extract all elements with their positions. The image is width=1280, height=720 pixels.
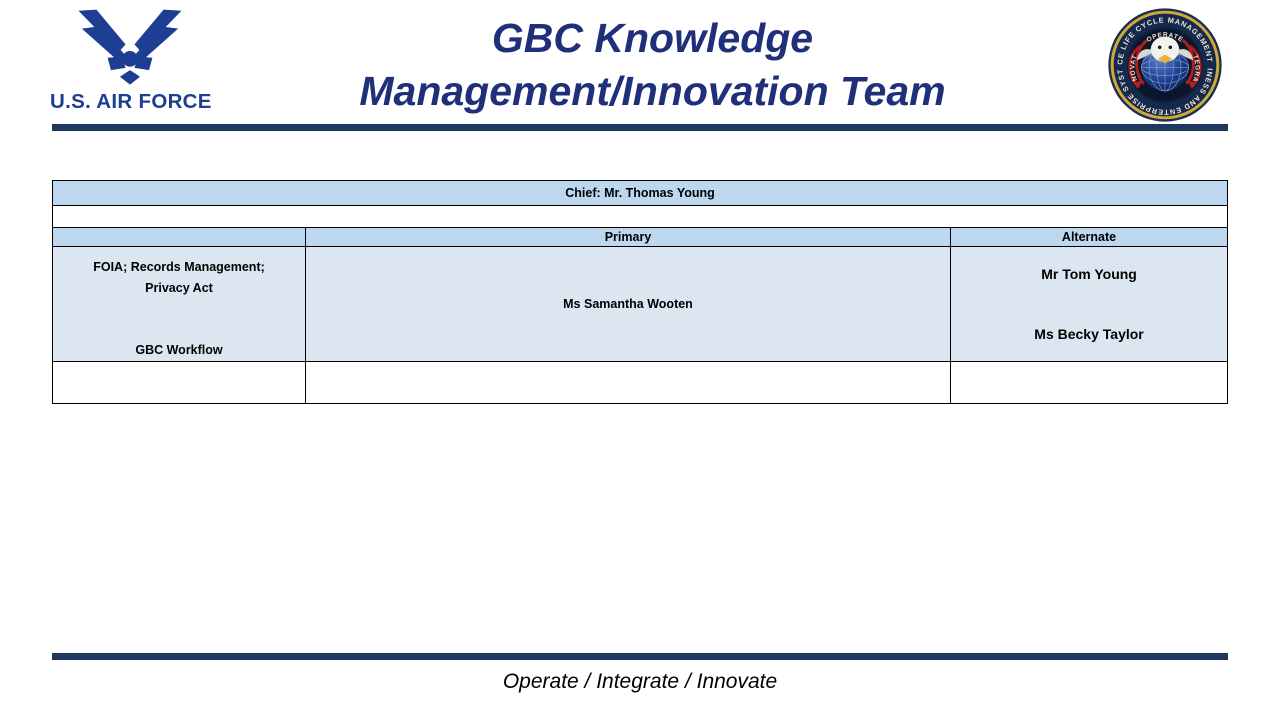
table-row-column-headers: Primary Alternate [53, 228, 1228, 247]
column-header-primary: Primary [306, 228, 951, 247]
cell-alternate [951, 362, 1228, 404]
page-title: GBC Knowledge Management/Innovation Team [215, 12, 1090, 118]
footer-tagline: Operate / Integrate / Innovate [0, 670, 1280, 694]
spacer-cell [53, 206, 1228, 228]
column-header-area [53, 228, 306, 247]
cell-functional-area [53, 362, 306, 404]
air-force-logo: U.S. AIR FORCE [50, 4, 210, 126]
alternate-name-2: Ms Becky Taylor [957, 326, 1221, 342]
header-divider-rule [52, 124, 1228, 131]
cell-primary: Ms Samantha Wooten [306, 247, 951, 362]
page-title-line-2: Management/Innovation Team [215, 65, 1090, 118]
cell-functional-area: FOIA; Records Management; Privacy Act GB… [53, 247, 306, 362]
area-line-1: FOIA; Records Management; [59, 257, 299, 278]
chief-cell: Chief: Mr. Thomas Young [53, 181, 1228, 206]
air-force-logo-text: U.S. AIR FORCE [50, 90, 210, 114]
page-title-line-1: GBC Knowledge [215, 12, 1090, 65]
table-row: FOIA; Records Management; Privacy Act GB… [53, 247, 1228, 362]
alternate-spacer [957, 282, 1221, 326]
table-row-spacer [53, 206, 1228, 228]
table-row-chief: Chief: Mr. Thomas Young [53, 181, 1228, 206]
aflcmc-seal-icon: AIR FORCE LIFE CYCLE MANAGEMENT CENTER B… [1102, 6, 1228, 124]
column-header-alternate: Alternate [951, 228, 1228, 247]
air-force-wings-icon [74, 4, 186, 88]
table-row [53, 362, 1228, 404]
area-spacer [59, 299, 299, 343]
team-roster-table: Chief: Mr. Thomas Young Primary Alternat… [52, 180, 1228, 404]
primary-name: Ms Samantha Wooten [312, 297, 944, 311]
footer-divider-rule [52, 653, 1228, 660]
slide-header: U.S. AIR FORCE GBC Knowledge Management/… [0, 0, 1280, 132]
alternate-name-1: Mr Tom Young [957, 266, 1221, 282]
area-line-3: GBC Workflow [59, 343, 299, 357]
cell-primary [306, 362, 951, 404]
area-line-2: Privacy Act [59, 278, 299, 299]
cell-alternate: Mr Tom Young Ms Becky Taylor [951, 247, 1228, 362]
